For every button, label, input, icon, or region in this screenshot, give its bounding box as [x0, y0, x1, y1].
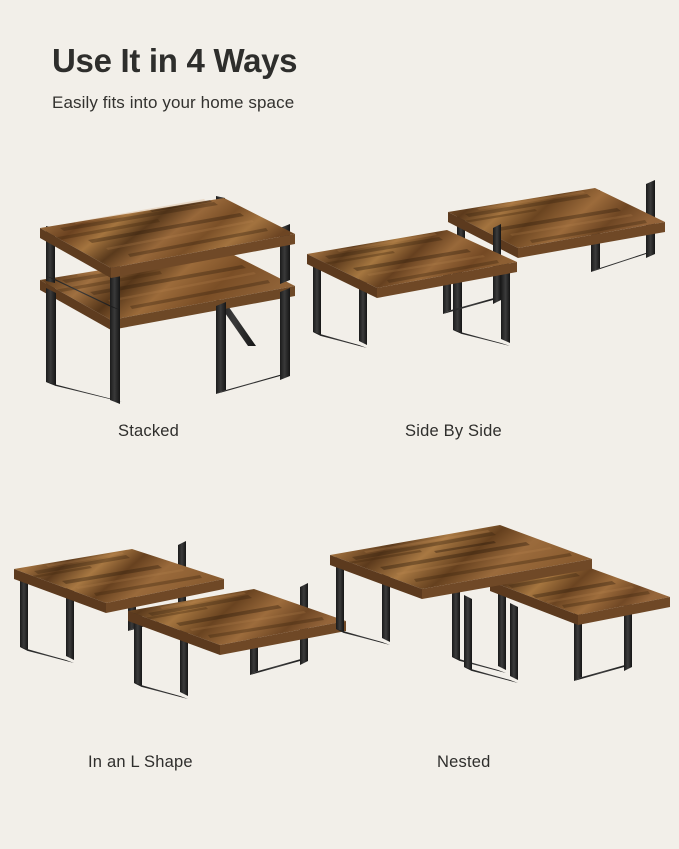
config-cell-stacked: Stacked — [10, 150, 340, 460]
configuration-grid: Stacked — [0, 150, 679, 840]
config-label-l-shape: In an L Shape — [88, 753, 193, 772]
config-cell-nested: Nested — [330, 505, 675, 805]
nested-illustration — [330, 505, 675, 745]
infographic-page: Use It in 4 Ways Easily fits into your h… — [0, 0, 679, 849]
l-shape-illustration — [10, 515, 355, 745]
stacked-illustration — [10, 150, 340, 410]
page-subtitle: Easily fits into your home space — [52, 93, 632, 113]
page-title: Use It in 4 Ways — [52, 42, 632, 80]
config-label-nested: Nested — [437, 753, 490, 772]
config-label-stacked: Stacked — [118, 422, 179, 441]
header-block: Use It in 4 Ways Easily fits into your h… — [52, 42, 632, 113]
config-label-side-by-side: Side By Side — [405, 422, 502, 441]
config-cell-l-shape: In an L Shape — [10, 515, 355, 815]
side-by-side-illustration — [305, 150, 675, 410]
config-cell-side-by-side: Side By Side — [305, 150, 675, 460]
